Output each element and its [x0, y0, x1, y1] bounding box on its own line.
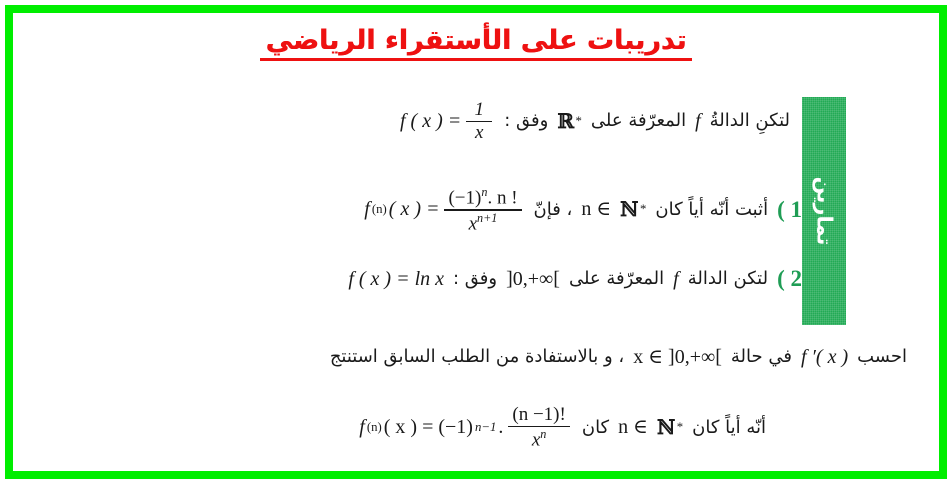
line4-text-c: ، و بالاستفادة من الطلب السابق استنتج	[330, 346, 624, 369]
line3-interval: ]0,+∞[	[506, 267, 560, 292]
line3-text-b: المعرّفة على	[569, 268, 664, 291]
line5-formula-arg: ( x ) = (−1)	[384, 415, 473, 440]
line5-sign-exponent: n−1	[475, 420, 496, 436]
slide-canvas: تدريبات على الأستقراء الرياضي تمارين لتك…	[0, 0, 952, 484]
line1-text-b: المعرّفة على	[591, 110, 686, 133]
line5-text-a: أنّه أياً كان	[692, 417, 766, 440]
statement-line-1: لتكنِ الدالةُ f المعرّفة على ℝ* وفق : f …	[400, 100, 790, 143]
line2-derivative-order: (n)	[372, 202, 387, 218]
line1-numerator: 1	[471, 100, 489, 121]
line2-fraction: (−1)n. n ! xn+1	[444, 186, 521, 234]
line3-function-symbol: f	[673, 267, 679, 292]
line4-domain: x ∈ ]0,+∞[	[633, 345, 722, 370]
line4-text-b: في حالة	[731, 346, 792, 369]
line2-text-b: ، فإنّ	[534, 199, 573, 222]
line1-fraction: 1 x	[466, 100, 492, 143]
line5-numerator: (n −1)!	[508, 405, 569, 426]
exercise-label-text: تمارين	[812, 177, 836, 246]
line1-text-c: وفق :	[504, 110, 548, 133]
line2-formula: f(n) ( x ) = (−1)n. n ! xn+1	[364, 186, 524, 234]
line5-formula: f(n) ( x ) = (−1)n−1 . (n −1)! xn	[359, 405, 573, 451]
statement-line-3: ( 2 لتكن الدالة f المعرّفة على ]0,+∞[ وف…	[348, 265, 802, 294]
line3-formula: f ( x ) = ln x	[348, 267, 444, 292]
line1-formula-lhs: f ( x ) =	[400, 109, 461, 134]
line5-text-b: كان	[582, 417, 609, 440]
line1-function-symbol: f	[695, 109, 701, 134]
line4-formula: f ′( x )	[801, 345, 848, 370]
line5-formula-lhs: f	[359, 415, 365, 440]
exercise-label-box: تمارين	[802, 97, 846, 325]
statement-line-2: ( 1 أثبت أنّه أياً كان n ∈ ℕ* ، فإنّ f(n…	[364, 186, 802, 234]
title-container: تدريبات على الأستقراء الرياضي	[0, 24, 952, 61]
line5-derivative-order: (n)	[367, 420, 382, 436]
statement-line-4: احسب f ′( x ) في حالة x ∈ ]0,+∞[ ، و بال…	[330, 345, 907, 370]
item-marker-1: ( 1	[777, 196, 802, 225]
statement-line-5: أنّه أياً كان n ∈ ℕ* كان f(n) ( x ) = (−…	[359, 405, 766, 451]
line5-denominator: xn	[528, 427, 551, 450]
line5-variable-condition: n ∈ ℕ*	[618, 415, 683, 440]
line2-variable-condition: n ∈ ℕ*	[581, 197, 646, 222]
line2-denominator: xn+1	[465, 211, 502, 234]
line1-text-a: لتكنِ الدالةُ	[710, 110, 790, 133]
line3-text-a: لتكن الدالة	[688, 268, 768, 291]
item-marker-2: ( 2	[777, 265, 802, 294]
line4-text-a: احسب	[857, 346, 907, 369]
line3-text-c: وفق :	[453, 268, 497, 291]
page-title: تدريبات على الأستقراء الرياضي	[260, 24, 693, 61]
line5-dot: .	[498, 415, 503, 440]
line2-numerator: (−1)n. n !	[444, 186, 521, 209]
line5-fraction: (n −1)! xn	[508, 405, 569, 451]
line1-domain-set: ℝ*	[557, 109, 582, 134]
line2-formula-lhs: f	[364, 197, 370, 222]
line2-text-a: أثبت أنّه أياً كان	[655, 199, 768, 222]
line1-denominator: x	[471, 122, 487, 143]
line1-formula: f ( x ) = 1 x	[400, 100, 495, 143]
line2-formula-arg: ( x ) =	[389, 197, 440, 222]
